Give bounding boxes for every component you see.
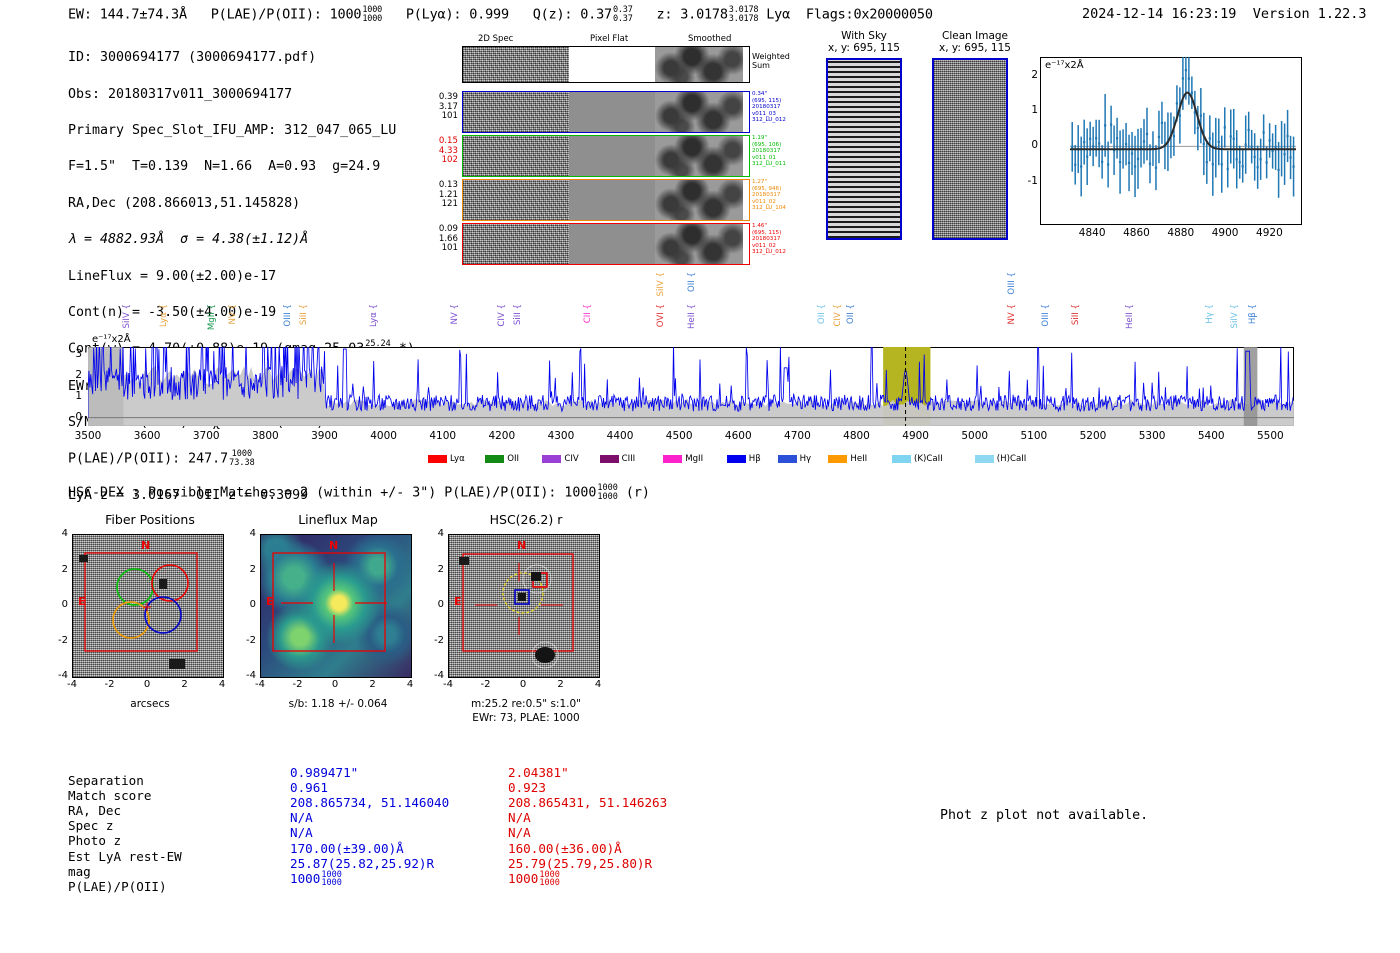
spec2d-col-title-smoothed: Smoothed	[688, 34, 731, 44]
legend-label: CIII	[622, 454, 636, 464]
line-profile-ytick: 2	[1022, 69, 1038, 81]
legend-swatch	[485, 455, 504, 463]
spectrum-xtick: 4400	[600, 430, 640, 442]
hsc-r-image[interactable]: N E	[448, 534, 600, 678]
match-table-row-label: Match score	[68, 788, 151, 803]
spectrum-xtick: 3600	[127, 430, 167, 442]
spec2d-col-title-pixelflat: Pixel Flat	[590, 34, 628, 44]
spectrum-xtick: 5000	[955, 430, 995, 442]
cutout-ytick: -2	[238, 635, 256, 646]
info-obs: Obs: 20180317v011_3000694177	[68, 86, 415, 104]
spectrum-xtick: 5300	[1132, 430, 1172, 442]
spectrum-xtick: 4600	[718, 430, 758, 442]
line-profile-xtick: 4840	[1076, 227, 1108, 239]
cutout-ytick: -4	[238, 670, 256, 681]
spec2d-fiber-right-label: 0.34" (695, 115) 20180317 v011_03 312_LU…	[752, 91, 786, 124]
match-table-value-2: 2.04381"	[508, 765, 569, 780]
source-info-block: ID: 3000694177 (3000694177.pdf) Obs: 201…	[68, 31, 415, 524]
lineflux-map-image[interactable]: N E	[260, 534, 412, 678]
hscdex-match-line: HSC-DEX : Possible Matches = 2 (within +…	[68, 484, 650, 501]
cutout-xtick: 0	[511, 679, 535, 690]
spec2d-fiber-right-label: 1.46" (695, 115) 20180317 v011_02 312_LU…	[752, 223, 786, 256]
header-version: Version 1.22.3	[1253, 6, 1367, 22]
spec2d-fiber-strip[interactable]	[462, 135, 750, 177]
match-table-row-label: Photo z	[68, 833, 121, 848]
line-profile-ytick: -1	[1022, 175, 1038, 187]
legend-swatch	[428, 455, 447, 463]
cutout-ytick: -2	[426, 635, 444, 646]
cutout-ytick: 2	[426, 564, 444, 575]
spectrum-ytick: 0	[70, 411, 82, 423]
match-table-value-1: 0.961	[290, 780, 328, 795]
legend-item: OII	[485, 454, 519, 464]
spec2d-weighted-sum-label: Weighted Sum	[752, 52, 790, 70]
spectrum-xtick: 4800	[837, 430, 877, 442]
info-cont-n: Cont(n) = -3.50(±4.00)e-19	[68, 304, 415, 322]
cutout-title: Lineflux Map	[248, 512, 428, 527]
match-table-value-2: 100010001000	[508, 871, 560, 888]
cutout-ytick: 0	[238, 599, 256, 610]
emission-line-label: NV {	[450, 304, 460, 325]
match-table-row-label: Separation	[68, 773, 144, 788]
spectrum-ytick: 3	[70, 348, 82, 360]
emission-line-label: OII {	[687, 272, 697, 292]
spectrum-xtick: 3800	[245, 430, 285, 442]
cutout-xtick: 2	[549, 679, 573, 690]
line-profile-ytick: 0	[1022, 139, 1038, 151]
withsky-image[interactable]	[826, 58, 902, 240]
legend-item: Hβ	[727, 454, 761, 464]
cutout-ytick: 0	[426, 599, 444, 610]
match-table-row-label: Spec z	[68, 818, 114, 833]
cutout-caption2: EWr: 73, PLAE: 1000	[436, 712, 616, 724]
withsky-title: With Sky x, y: 695, 115	[824, 30, 904, 54]
header-flags: Flags:0x20000050	[806, 7, 933, 23]
legend-item: Lyα	[428, 454, 465, 464]
compass-n: N	[141, 539, 150, 552]
cutout-xlabel: arcsecs	[60, 698, 240, 710]
spec2d-fiber-left-label: 0.39 3.17 101	[412, 93, 458, 122]
cutout-ytick: 2	[50, 564, 68, 575]
header-qz: Q(z): 0.37	[533, 7, 612, 23]
emission-line-label: HeII {	[687, 304, 697, 329]
spectrum-xtick: 5400	[1191, 430, 1231, 442]
emission-line-label: OII {	[846, 304, 856, 324]
header-plae: P(LAE)/P(OII): 1000	[211, 7, 362, 23]
cutout-ytick: 0	[50, 599, 68, 610]
legend-swatch	[727, 455, 746, 463]
match-table-row-label: P(LAE)/P(OII)	[68, 879, 167, 894]
cutout-xtick: 0	[323, 679, 347, 690]
line-profile-xtick: 4900	[1209, 227, 1241, 239]
emission-line-label: OIII {	[1041, 304, 1051, 327]
emission-line-label: OIII {	[1007, 272, 1017, 295]
spectrum-xtick: 5200	[1073, 430, 1113, 442]
spec2d-fiber-strip[interactable]	[462, 179, 750, 221]
legend-label: HeII	[850, 454, 867, 464]
cutout-ytick: -4	[50, 670, 68, 681]
match-table-value-2: N/A	[508, 810, 531, 825]
legend-item: CIV	[542, 454, 578, 464]
info-plae: P(LAE)/P(OII): 247.7100073.38	[68, 450, 415, 469]
cutout-xtick: 0	[135, 679, 159, 690]
emission-line-label: SiII {	[299, 304, 309, 325]
spec2d-fiber-left-label: 0.09 1.66 101	[412, 225, 458, 254]
match-table-value-1: 0.989471"	[290, 765, 358, 780]
legend-swatch	[975, 455, 994, 463]
spec2d-col-title-2dspec: 2D Spec	[478, 34, 513, 44]
spectrum-xtick: 3500	[68, 430, 108, 442]
spectrum-ytick: 2	[70, 369, 82, 381]
match-table-row-label: RA, Dec	[68, 803, 121, 818]
header-datetime: 2024-12-14 16:23:19	[1082, 6, 1236, 22]
legend-swatch	[542, 455, 561, 463]
cutout-xtick: -2	[98, 679, 122, 690]
emission-line-label: NV {	[228, 304, 238, 325]
emission-line-label: MgII {	[207, 304, 217, 330]
emission-line-label: NV {	[1007, 304, 1017, 325]
legend-item: Hγ	[778, 454, 812, 464]
cutout-ytick: -4	[426, 670, 444, 681]
emission-line-label: Hβ {	[1248, 304, 1258, 324]
spec2d-weighted-sum-strip	[462, 46, 750, 83]
cutout-xtick: 4	[210, 679, 234, 690]
cleanimage-image[interactable]	[932, 58, 1008, 240]
emission-line-label: CIV {	[833, 304, 843, 327]
legend-label: OII	[507, 454, 519, 464]
cutout-xtick: 4	[586, 679, 610, 690]
legend-item: (H)CaII	[975, 454, 1027, 464]
match-table-value-1: 25.87(25.82,25.92)R	[290, 856, 434, 871]
photz-note: Phot z plot not available.	[940, 808, 1148, 823]
line-profile-plot[interactable]: e⁻¹⁷x2Å	[1040, 57, 1302, 225]
match-table-row-label: Est LyA rest-EW	[68, 849, 182, 864]
emission-line-label: SiII {	[513, 304, 523, 325]
emission-line-label: HeII {	[1125, 304, 1135, 329]
legend-label: Hγ	[800, 454, 812, 464]
spectrum-xtick: 4700	[777, 430, 817, 442]
cutout-xlabel: s/b: 1.18 +/- 0.064	[248, 698, 428, 710]
cutout-xtick: 4	[398, 679, 422, 690]
spectrum-xtick: 4100	[423, 430, 463, 442]
legend-swatch	[892, 455, 911, 463]
match-table-value-1: 170.00(±39.00)Å	[290, 841, 404, 856]
cutout-ytick: 4	[238, 528, 256, 539]
cutout-ytick: 4	[426, 528, 444, 539]
spectrum-ytick: 1	[70, 390, 82, 402]
spec2d-fiber-strip[interactable]	[462, 91, 750, 133]
match-table-row-label: mag	[68, 864, 91, 879]
spectrum-xtick: 4300	[541, 430, 581, 442]
header-summary: EW: 144.7±74.3Å P(LAE)/P(OII): 100010001…	[68, 6, 933, 23]
match-table-value-2: N/A	[508, 825, 531, 840]
spectrum-xtick: 3900	[304, 430, 344, 442]
emission-line-label: OII {	[817, 304, 827, 324]
line-profile-ytick: 1	[1022, 104, 1038, 116]
match-table-value-2: 160.00(±36.00)Å	[508, 841, 622, 856]
legend-swatch	[828, 455, 847, 463]
compass-n: N	[329, 539, 338, 552]
spectrum-xtick: 4500	[659, 430, 699, 442]
cutout-xtick: 2	[173, 679, 197, 690]
compass-e: E	[78, 595, 86, 608]
match-table-value-2: 0.923	[508, 780, 546, 795]
emission-line-label: Lyα {	[159, 304, 169, 327]
spectrum-units: e⁻¹⁷x2Å	[92, 334, 131, 345]
spec2d-fiber-left-label: 0.13 1.21 121	[412, 181, 458, 210]
spectrum-xtick: 4000	[364, 430, 404, 442]
legend-swatch	[663, 455, 682, 463]
emission-line-label: SiIV {	[1230, 304, 1240, 328]
cutout-xlabel: m:25.2 re:0.5" s:1.0"	[436, 698, 616, 710]
legend-swatch	[600, 455, 619, 463]
spec2d-panel: 2D Spec Pixel Flat Smoothed Weighted Sum…	[430, 34, 770, 249]
info-slot: Primary Spec_Slot_IFU_AMP: 312_047_065_L…	[68, 122, 415, 140]
info-id: ID: 3000694177 (3000694177.pdf)	[68, 49, 415, 67]
emission-line-label: SiII {	[1071, 304, 1081, 325]
emission-line-label: CII {	[583, 304, 593, 323]
legend-label: Hβ	[749, 454, 761, 464]
spec2d-fiber-strip[interactable]	[462, 223, 750, 265]
legend-swatch	[778, 455, 797, 463]
spec2d-fiber-left-label: 0.15 4.33 102	[412, 137, 458, 166]
legend-label: CIV	[564, 454, 578, 464]
emission-line-label: SiIV {	[656, 272, 666, 296]
cutout-ytick: -2	[50, 635, 68, 646]
cutout-title: HSC(26.2) r	[436, 512, 616, 527]
full-spectrum-plot[interactable]: e⁻¹⁷x2Å	[88, 347, 1294, 426]
cutout-xtick: -2	[474, 679, 498, 690]
legend-item: (K)CaII	[892, 454, 943, 464]
spectrum-xtick: 3700	[186, 430, 226, 442]
match-table-value-1: N/A	[290, 810, 313, 825]
line-profile-xtick: 4860	[1120, 227, 1152, 239]
match-table-value-2: 25.79(25.79,25.80)R	[508, 856, 652, 871]
legend-label: MgII	[685, 454, 703, 464]
header-ew: EW: 144.7±74.3Å	[68, 7, 187, 23]
legend-label: Lyα	[450, 454, 465, 464]
match-table-value-1: 208.865734, 51.146040	[290, 795, 449, 810]
compass-n: N	[517, 539, 526, 552]
info-lambda-sigma: λ = 4882.93Å σ = 4.38(±1.12)Å	[68, 231, 415, 249]
emission-line-label: Lyα {	[369, 304, 379, 327]
header-z-line: Lyα	[766, 7, 790, 23]
line-profile-xtick: 4920	[1253, 227, 1285, 239]
emission-line-label: OIII {	[283, 304, 293, 327]
legend-item: HeII	[828, 454, 867, 464]
line-profile-xtick: 4880	[1165, 227, 1197, 239]
header-meta: 2024-12-14 16:23:19 Version 1.22.3	[1082, 6, 1367, 22]
fiber-positions-image[interactable]: N E	[72, 534, 224, 678]
header-plya: P(Lyα): 0.999	[406, 7, 509, 23]
spec2d-fiber-right-label: 1.27" (695, 946) 20180317 v011_02 312_LU…	[752, 179, 786, 212]
match-table-value-1: 100010001000	[290, 871, 342, 888]
legend-label: (K)CaII	[914, 454, 943, 464]
spectrum-xtick: 4200	[482, 430, 522, 442]
info-radec: RA,Dec (208.866013,51.145828)	[68, 195, 415, 213]
compass-e: E	[266, 595, 274, 608]
header-z: z: 3.0178	[656, 7, 727, 23]
info-seeing: F=1.5" T=0.139 N=1.66 A=0.93 g=24.9	[68, 158, 415, 176]
emission-line-label: Hγ {	[1205, 304, 1215, 324]
spectrum-xtick: 4900	[896, 430, 936, 442]
cutout-title: Fiber Positions	[60, 512, 240, 527]
legend-item: MgII	[663, 454, 703, 464]
cutout-xtick: 2	[361, 679, 385, 690]
emission-line-label: CIV {	[497, 304, 507, 327]
legend-label: (H)CaII	[997, 454, 1027, 464]
info-lineflux: LineFlux = 9.00(±2.00)e-17	[68, 268, 415, 286]
emission-line-label: SiIV {	[122, 304, 132, 328]
cutout-ytick: 2	[238, 564, 256, 575]
cleanimage-title: Clean Image x, y: 695, 115	[928, 30, 1022, 54]
spec2d-fiber-right-label: 1.19" (695, 106) 20180317 v011_01 312_LU…	[752, 135, 786, 168]
compass-e: E	[454, 595, 462, 608]
emission-line-label: OVI {	[656, 304, 666, 327]
spectrum-xtick: 5100	[1014, 430, 1054, 442]
cutout-ytick: 4	[50, 528, 68, 539]
spectrum-xtick: 5500	[1250, 430, 1290, 442]
match-table-value-1: N/A	[290, 825, 313, 840]
cutout-xtick: -2	[286, 679, 310, 690]
match-table-value-2: 208.865431, 51.146263	[508, 795, 667, 810]
legend-item: CIII	[600, 454, 636, 464]
